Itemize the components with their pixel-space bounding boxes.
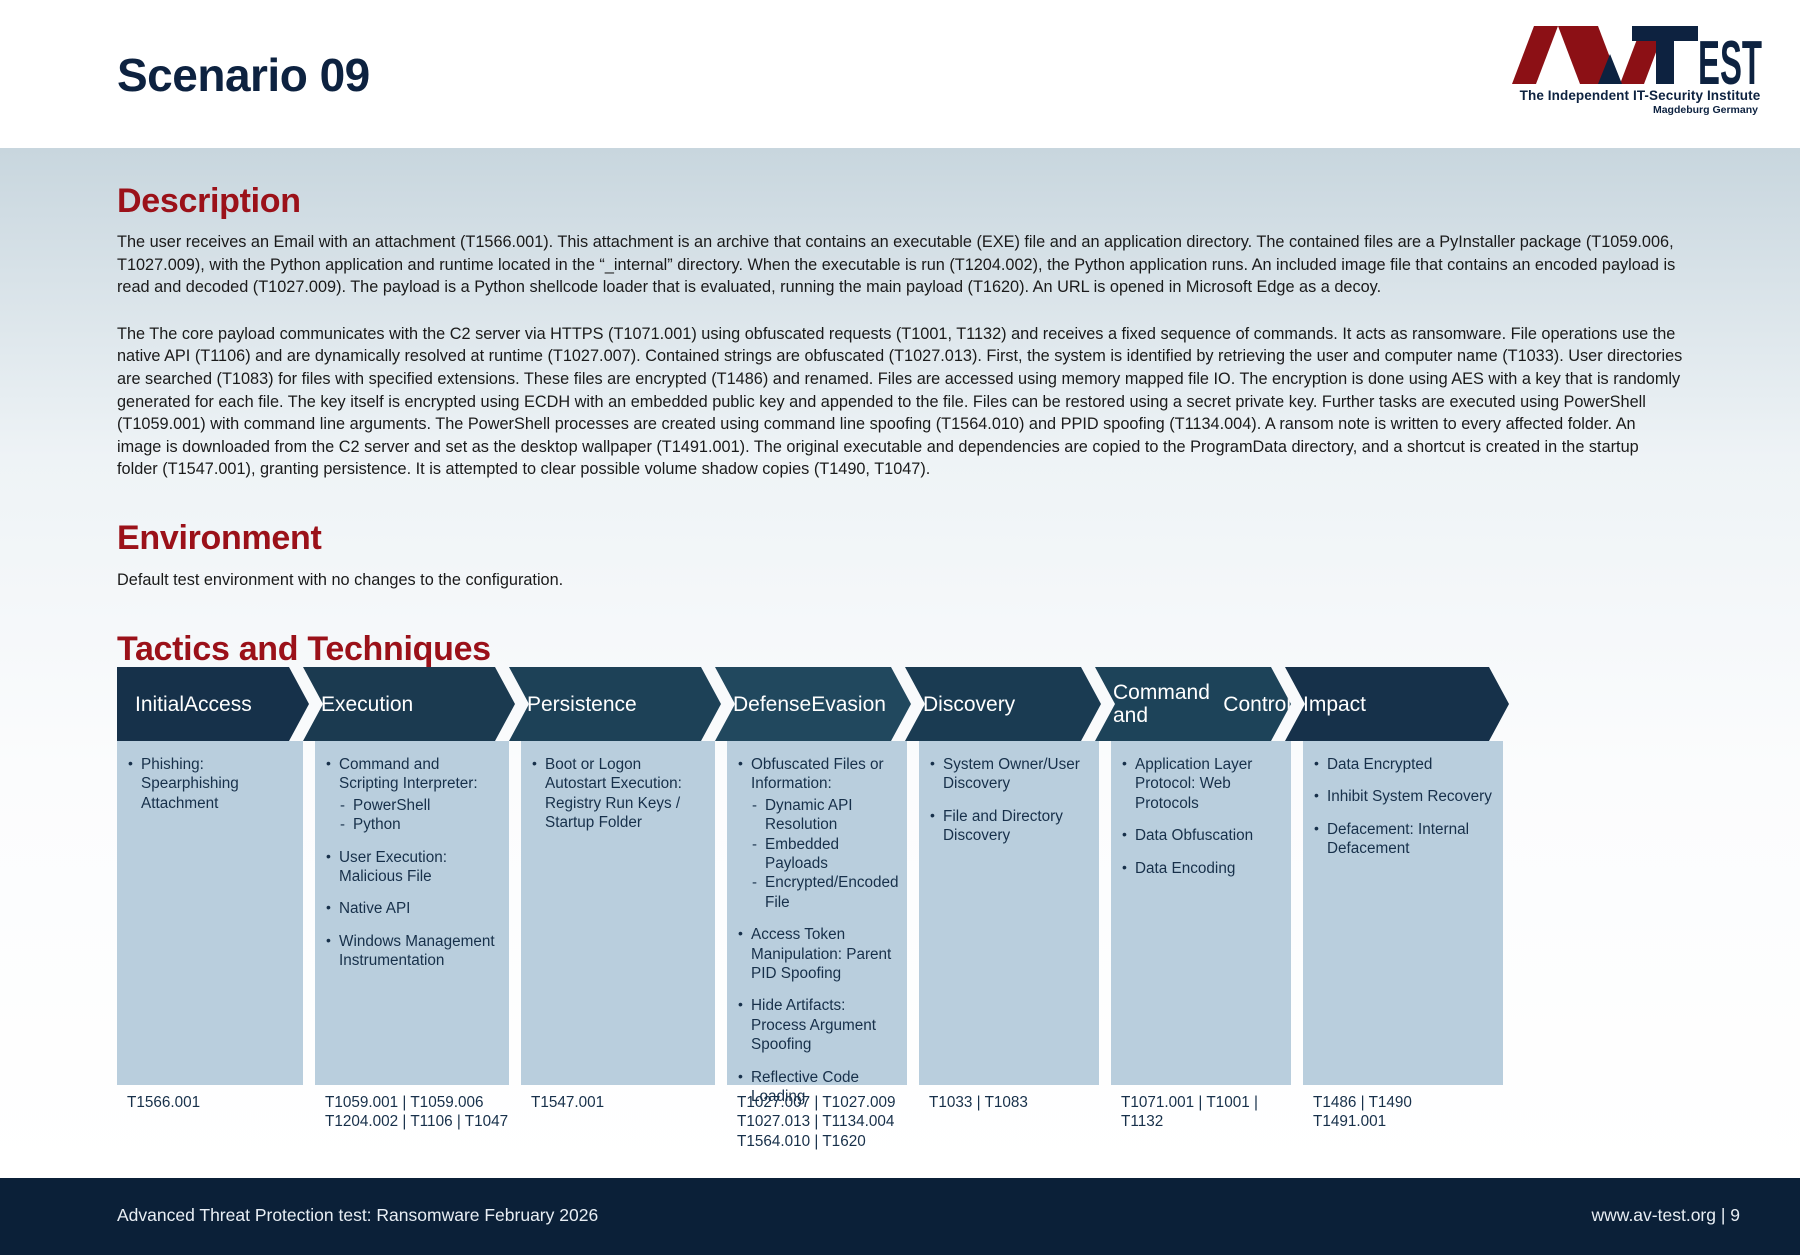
technique-list: Command and Scripting Interpreter:PowerS…	[325, 755, 499, 971]
technique-ids: T1033 | T1083	[919, 1093, 1099, 1163]
technique-list: Phishing: Spearphishing Attachment	[127, 755, 293, 813]
technique-column: Boot or Logon Autostart Execution: Regis…	[521, 741, 715, 1085]
technique-column: Data EncryptedInhibit System RecoveryDef…	[1303, 741, 1503, 1085]
technique-item: System Owner/User Discovery	[929, 755, 1089, 794]
technique-column: Application Layer Protocol: Web Protocol…	[1111, 741, 1291, 1085]
page-footer: Advanced Threat Protection test: Ransomw…	[0, 1178, 1800, 1255]
tactic-header-defense-evasion: DefenseEvasion	[715, 667, 911, 741]
tactic-header-initial-access: InitialAccess	[117, 667, 309, 741]
page-content: Description The user receives an Email w…	[0, 148, 1800, 669]
technique-item: Data Obfuscation	[1121, 826, 1281, 845]
technique-item: Boot or Logon Autostart Execution: Regis…	[531, 755, 705, 833]
technique-ids: T1071.001 | T1001 | T1132	[1111, 1093, 1291, 1163]
technique-item: Data Encoding	[1121, 859, 1281, 878]
technique-columns: Phishing: Spearphishing AttachmentComman…	[117, 741, 1509, 1085]
technique-item: Command and Scripting Interpreter:PowerS…	[325, 755, 499, 835]
tactic-header-line: Execution	[321, 693, 413, 716]
technique-item: Phishing: Spearphishing Attachment	[127, 755, 293, 813]
tactic-header-line: Defense	[733, 693, 811, 716]
footer-url-page[interactable]: www.av-test.org | 9	[1592, 1205, 1741, 1226]
technique-item: Application Layer Protocol: Web Protocol…	[1121, 755, 1281, 813]
technique-item: Inhibit System Recovery	[1313, 787, 1493, 806]
tactic-header-discovery: Discovery	[905, 667, 1101, 741]
technique-item: Defacement: Internal Defacement	[1313, 820, 1493, 859]
technique-subitem: Dynamic API Resolution	[751, 796, 897, 835]
tactic-header-line: Command and	[1113, 681, 1223, 727]
environment-text: Default test environment with no changes…	[117, 569, 1683, 592]
tactic-header-execution: Execution	[303, 667, 515, 741]
technique-subitem-list: Dynamic API ResolutionEmbedded PayloadsE…	[751, 796, 897, 912]
technique-column: Obfuscated Files or Information:Dynamic …	[727, 741, 907, 1085]
page-header: Scenario 09 EST The Independent IT-Secur…	[0, 0, 1800, 148]
technique-subitem: Encrypted/Encoded File	[751, 873, 897, 912]
technique-item: File and Directory Discovery	[929, 807, 1089, 846]
av-test-logo: EST The Independent IT-Security Institut…	[1512, 26, 1762, 118]
footer-test-name: Advanced Threat Protection test: Ransomw…	[117, 1205, 598, 1226]
tactic-header-command-and-control: Command andControl	[1095, 667, 1291, 741]
page-title: Scenario 09	[117, 48, 370, 102]
technique-item: Windows Management Instrumentation	[325, 932, 499, 971]
environment-heading: Environment	[117, 519, 1800, 558]
technique-item: Data Encrypted	[1313, 755, 1493, 774]
tactic-header-line: Impact	[1303, 693, 1366, 716]
technique-subitem: Embedded Payloads	[751, 835, 897, 874]
svg-text:EST: EST	[1698, 29, 1762, 88]
technique-subitem: Python	[339, 815, 499, 834]
av-test-wordmark-icon: EST	[1512, 26, 1762, 88]
technique-list: Data EncryptedInhibit System RecoveryDef…	[1313, 755, 1493, 859]
tactic-header-line: Control	[1223, 693, 1291, 716]
technique-item: Access Token Manipulation: Parent PID Sp…	[737, 925, 897, 983]
technique-subitem-list: PowerShellPython	[339, 796, 499, 835]
tactic-header-line: Evasion	[811, 693, 886, 716]
technique-column: Phishing: Spearphishing Attachment	[117, 741, 303, 1085]
tactic-header-persistence: Persistence	[509, 667, 721, 741]
technique-list: Obfuscated Files or Information:Dynamic …	[737, 755, 897, 1107]
tactic-header-line: Discovery	[923, 693, 1015, 716]
tactic-header-line: Initial	[135, 693, 184, 716]
technique-list: Boot or Logon Autostart Execution: Regis…	[531, 755, 705, 833]
tactics-heading: Tactics and Techniques	[117, 630, 1800, 669]
technique-item: User Execution: Malicious File	[325, 848, 499, 887]
logo-location: Magdeburg Germany	[1518, 104, 1762, 116]
technique-ids: T1027.007 | T1027.009 T1027.013 | T1134.…	[727, 1093, 907, 1163]
tactic-header-line: Access	[184, 693, 252, 716]
tactics-matrix: InitialAccessExecutionPersistenceDefense…	[117, 667, 1509, 1163]
technique-column: System Owner/User DiscoveryFile and Dire…	[919, 741, 1099, 1085]
technique-ids: T1566.001	[117, 1093, 303, 1163]
technique-list: Application Layer Protocol: Web Protocol…	[1121, 755, 1281, 878]
tactic-header-impact: Impact	[1285, 667, 1509, 741]
technique-ids: T1059.001 | T1059.006 T1204.002 | T1106 …	[315, 1093, 509, 1163]
tactic-header-row: InitialAccessExecutionPersistenceDefense…	[117, 667, 1509, 741]
technique-id-row: T1566.001T1059.001 | T1059.006 T1204.002…	[117, 1093, 1509, 1163]
description-paragraph-1: The user receives an Email with an attac…	[117, 231, 1683, 299]
tactic-header-line: Persistence	[527, 693, 637, 716]
technique-list: System Owner/User DiscoveryFile and Dire…	[929, 755, 1089, 846]
description-paragraph-2: The The core payload communicates with t…	[117, 323, 1683, 481]
technique-ids: T1547.001	[521, 1093, 715, 1163]
technique-column: Command and Scripting Interpreter:PowerS…	[315, 741, 509, 1085]
description-heading: Description	[117, 182, 1800, 221]
technique-item: Native API	[325, 899, 499, 918]
technique-ids: T1486 | T1490 T1491.001	[1303, 1093, 1503, 1163]
logo-tagline: The Independent IT-Security Institute	[1518, 88, 1762, 103]
technique-item: Hide Artifacts: Process Argument Spoofin…	[737, 996, 897, 1054]
av-test-logo-mark: EST	[1512, 26, 1762, 88]
technique-item: Obfuscated Files or Information:Dynamic …	[737, 755, 897, 912]
technique-subitem: PowerShell	[339, 796, 499, 815]
